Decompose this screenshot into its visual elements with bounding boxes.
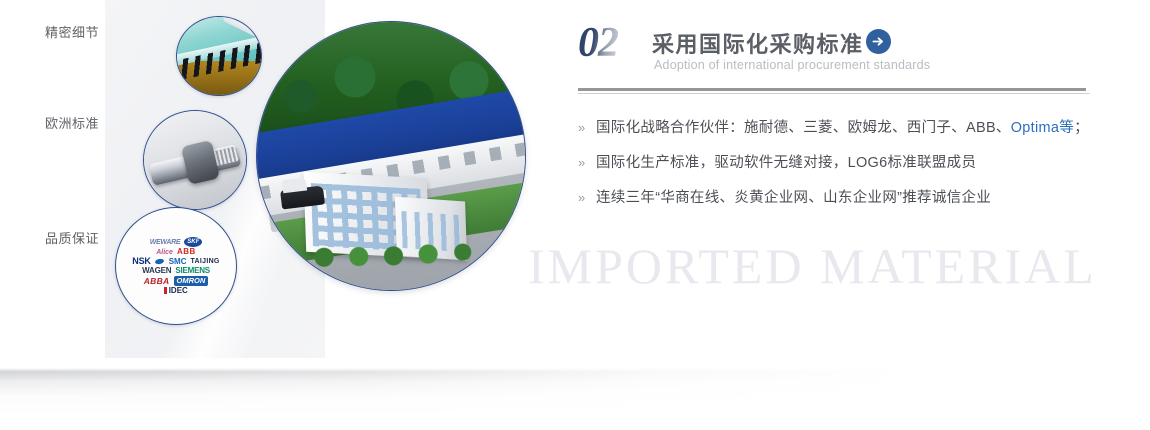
list-item-label: 连续三年“华商在线、炎黄企业网、山东企业网”推荐诚信企业 <box>596 186 991 207</box>
logo-alice: Alice <box>156 249 173 256</box>
logo-idec: IDEC <box>164 287 188 295</box>
chevron-double-right-icon: » <box>578 120 596 135</box>
collage-label-precision: 精密细节 <box>0 22 99 41</box>
logo-weware: WEWARE <box>150 239 180 246</box>
logo-skf: SKF <box>184 237 202 247</box>
collage-label-european: 欧洲标准 <box>0 113 99 132</box>
gear-teeth-macro-photo <box>176 16 262 96</box>
collage-label-column: 精密细节 欧洲标准 品质保证 <box>0 0 105 358</box>
list-item: » 国际化战略合作伙伴：施耐德、三菱、欧姆龙、西门子、ABB、Optima等； <box>578 116 1098 137</box>
divider-thin-line <box>578 93 1090 94</box>
list-item: » 国际化生产标准，驱动软件无缝对接，LOG6标准联盟成员 <box>578 151 1098 172</box>
list-item-label: 国际化战略合作伙伴：施耐德、三菱、欧姆龙、西门子、ABB、Optima等； <box>596 116 1089 137</box>
list-item-label: 国际化生产标准，驱动软件无缝对接，LOG6标准联盟成员 <box>596 151 976 172</box>
section-number: 02 <box>578 22 618 64</box>
brand-logo-cloud: WEWARE SKF Alice ABB NSK SMC TAIJING WAG… <box>115 207 237 325</box>
logo-wagen: WAGEN <box>142 267 171 275</box>
logo-row: ABBA OMRON <box>119 276 233 286</box>
logo-omron: OMRON <box>174 276 209 286</box>
logo-row: Alice ABB <box>119 248 233 256</box>
logo-smc: SMC <box>169 258 187 266</box>
logo-nsk: NSK <box>132 257 150 266</box>
smc-ellipse-icon <box>154 258 164 265</box>
collage-label-quality: 品质保证 <box>0 228 99 247</box>
brand-logo-list: WEWARE SKF Alice ABB NSK SMC TAIJING WAG… <box>116 208 236 324</box>
header-divider <box>578 88 1090 94</box>
chevron-double-right-icon: » <box>578 155 596 170</box>
chevron-double-right-icon: » <box>578 190 596 205</box>
logo-row: IDEC <box>119 287 233 295</box>
ball-screw-spindle-photo <box>143 110 247 210</box>
promo-section: WEWARE SKF Alice ABB NSK SMC TAIJING WAG… <box>0 0 1150 430</box>
page-subtitle: Adoption of international procurement st… <box>654 58 930 72</box>
logo-row: WEWARE SKF <box>119 237 233 247</box>
arrow-right-circle-icon[interactable] <box>866 29 891 54</box>
list-item-accent: Optima等 <box>1011 120 1074 136</box>
logo-abb: ABB <box>177 248 196 256</box>
divider-thick-line <box>578 88 1086 91</box>
logo-abba: ABBA <box>144 277 170 286</box>
watermark-text: IMPORTED MATERIAL <box>528 237 1097 295</box>
logo-taijing: TAIJING <box>190 258 219 265</box>
logo-row: WAGEN SIEMENS <box>119 267 233 275</box>
list-item: » 连续三年“华商在线、炎黄企业网、山东企业网”推荐诚信企业 <box>578 186 1098 207</box>
page-title: 采用国际化采购标准 <box>652 27 864 59</box>
factory-building-aerial-photo <box>256 21 526 291</box>
bottom-shadow-swoosh <box>0 368 1150 430</box>
section-content: 02 采用国际化采购标准 Adoption of international p… <box>578 24 1098 221</box>
section-header: 02 采用国际化采购标准 Adoption of international p… <box>578 24 1098 86</box>
feature-bullet-list: » 国际化战略合作伙伴：施耐德、三菱、欧姆龙、西门子、ABB、Optima等； … <box>578 116 1098 207</box>
logo-row: NSK SMC TAIJING <box>119 257 233 266</box>
logo-siemens: SIEMENS <box>175 267 210 275</box>
